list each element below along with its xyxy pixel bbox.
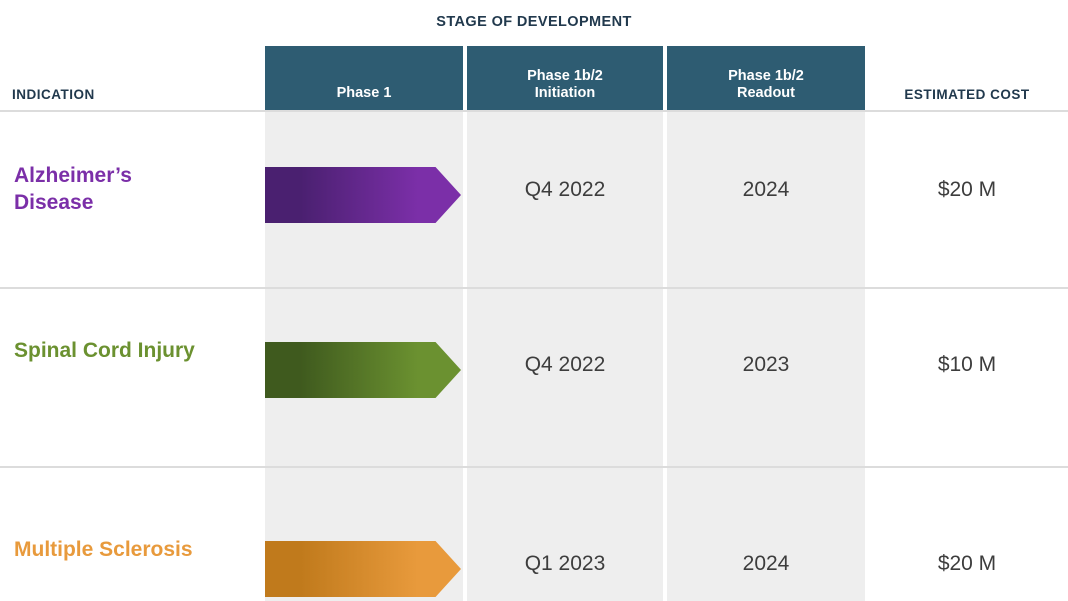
header-divider-2	[663, 46, 667, 110]
phase-1-progress-arrow-shape	[265, 342, 461, 398]
column-header-phase-1b2-initiation-line1: Phase 1b/2	[527, 68, 603, 85]
table-row: Alzheimer’s Disease Q4 2022 2024 $20 M	[0, 112, 1068, 289]
estimated-cost-value: $20 M	[872, 552, 1062, 576]
column-header-indication: INDICATION	[12, 46, 252, 110]
phase-1-progress-arrow	[265, 167, 461, 223]
phase-1-progress-arrow	[265, 541, 461, 597]
indication-label-line1: Alzheimer’s	[14, 162, 264, 189]
column-header-phase-1b2-initiation-line2: Initiation	[527, 85, 603, 102]
indication-label: Multiple Sclerosis	[14, 536, 264, 563]
indication-label: Alzheimer’s Disease	[14, 162, 264, 217]
phase-1b2-initiation-value: Q4 2022	[467, 178, 663, 202]
phase-1b2-readout-value: 2024	[667, 178, 865, 202]
indication-label-line2: Disease	[14, 189, 264, 216]
indication-label-line1: Spinal Cord Injury	[14, 337, 264, 364]
column-header-phase-1-label: Phase 1	[337, 85, 392, 102]
page-title: STAGE OF DEVELOPMENT	[0, 14, 1068, 30]
phase-1-progress-arrow-shape	[265, 541, 461, 597]
estimated-cost-value: $10 M	[872, 353, 1062, 377]
phase-1b2-readout-value: 2024	[667, 552, 865, 576]
phase-1-progress-arrow	[265, 342, 461, 398]
column-header-phase-1b2-readout-line1: Phase 1b/2	[728, 68, 804, 85]
column-header-phase-1b2-readout: Phase 1b/2 Readout	[667, 46, 865, 110]
column-header-phase-1: Phase 1	[265, 46, 463, 110]
table-row: Spinal Cord Injury Q4 2022 2023 $10 M	[0, 289, 1068, 466]
phase-1b2-initiation-value: Q4 2022	[467, 353, 663, 377]
indication-label: Spinal Cord Injury	[14, 337, 264, 364]
column-header-estimated-cost: ESTIMATED COST	[872, 46, 1062, 110]
pipeline-chart: STAGE OF DEVELOPMENT INDICATION Phase 1 …	[0, 0, 1068, 601]
phase-1b2-readout-value: 2023	[667, 353, 865, 377]
header-divider-1	[463, 46, 467, 110]
indication-label-line1: Multiple Sclerosis	[14, 536, 264, 563]
estimated-cost-value: $20 M	[872, 178, 1062, 202]
column-header-phase-1b2-initiation: Phase 1b/2 Initiation	[467, 46, 663, 110]
column-header-phase-1b2-readout-line2: Readout	[728, 85, 804, 102]
phase-1b2-initiation-value: Q1 2023	[467, 552, 663, 576]
phase-1-progress-arrow-shape	[265, 167, 461, 223]
table-row: Multiple Sclerosis Q1 2023 2024 $20 M	[0, 468, 1068, 601]
